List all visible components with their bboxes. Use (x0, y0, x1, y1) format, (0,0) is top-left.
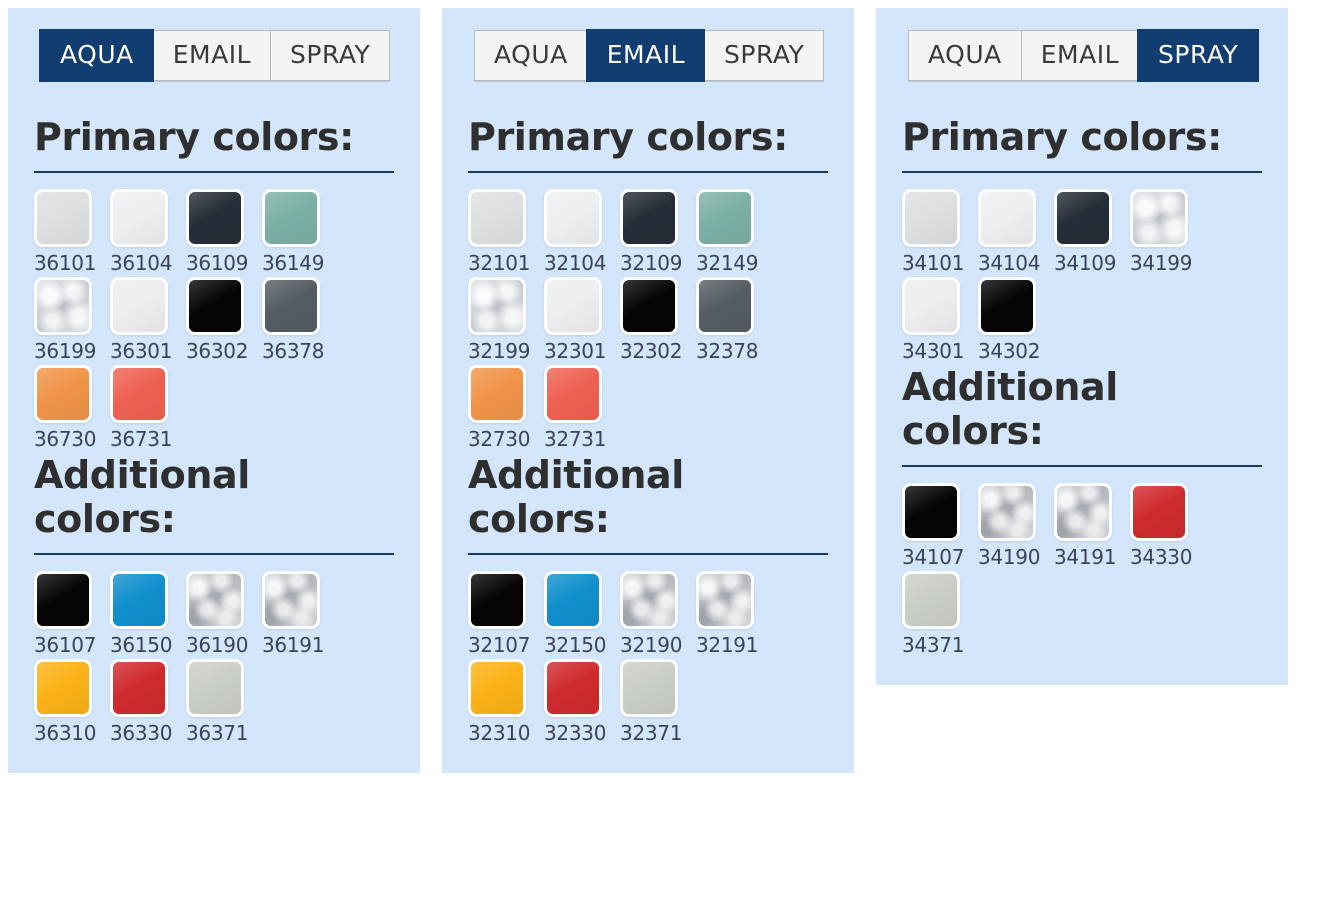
swatch-cell[interactable]: 32301 (544, 277, 620, 361)
color-code-label: 32378 (696, 341, 758, 361)
color-chip-32104[interactable] (544, 189, 602, 247)
color-chip-36371[interactable] (186, 659, 244, 717)
swatch-cell[interactable]: 32150 (544, 571, 620, 655)
color-chip-32330[interactable] (544, 659, 602, 717)
tab-spray[interactable]: SPRAY (270, 30, 390, 81)
swatch-cell[interactable]: 34109 (1054, 189, 1130, 273)
color-chip-32101[interactable] (468, 189, 526, 247)
color-code-label: 32191 (696, 635, 758, 655)
color-chip-36191[interactable] (262, 571, 320, 629)
swatch-cell[interactable]: 36302 (186, 277, 262, 361)
color-code-label: 36104 (110, 253, 172, 273)
color-chip-34302[interactable] (978, 277, 1036, 335)
swatch-cell[interactable]: 36310 (34, 659, 110, 743)
color-chip-36301[interactable] (110, 277, 168, 335)
color-code-label: 34101 (902, 253, 964, 273)
tab-email[interactable]: EMAIL (587, 30, 704, 81)
color-code-label: 32330 (544, 723, 606, 743)
swatch-cell[interactable]: 36150 (110, 571, 186, 655)
tab-bar: AQUAEMAILSPRAY (40, 30, 390, 81)
swatch-cell[interactable]: 32731 (544, 365, 620, 449)
primary-divider (902, 171, 1262, 173)
color-chip-32150[interactable] (544, 571, 602, 629)
color-code-label: 36730 (34, 429, 96, 449)
color-chip-32378[interactable] (696, 277, 754, 335)
tab-bar: AQUAEMAILSPRAY (474, 30, 824, 81)
color-code-label: 32109 (620, 253, 682, 273)
color-code-label: 32302 (620, 341, 682, 361)
primary-swatch-grid: 341013410434109341993430134302 (902, 189, 1262, 365)
swatch-cell[interactable]: 36730 (34, 365, 110, 449)
color-chip-34330[interactable] (1130, 483, 1188, 541)
swatch-cell[interactable]: 32310 (468, 659, 544, 743)
color-code-label: 34191 (1054, 547, 1116, 567)
additional-colors-heading: Additional colors: (34, 453, 394, 541)
swatch-cell[interactable]: 36104 (110, 189, 186, 273)
tab-spray[interactable]: SPRAY (1138, 30, 1258, 81)
color-code-label: 32107 (468, 635, 530, 655)
color-chip-32191[interactable] (696, 571, 754, 629)
color-code-label: 36301 (110, 341, 172, 361)
swatch-cell[interactable]: 36101 (34, 189, 110, 273)
additional-swatch-grid: 32107321503219032191323103233032371 (468, 571, 828, 747)
color-code-label: 32731 (544, 429, 606, 449)
color-chip-34190[interactable] (978, 483, 1036, 541)
color-code-label: 34371 (902, 635, 964, 655)
primary-colors-heading: Primary colors: (902, 115, 1262, 159)
swatch-cell[interactable]: 36107 (34, 571, 110, 655)
swatch-cell[interactable]: 32302 (620, 277, 696, 361)
tab-email[interactable]: EMAIL (153, 30, 270, 81)
color-code-label: 36731 (110, 429, 172, 449)
additional-divider (468, 553, 828, 555)
swatch-cell[interactable]: 36330 (110, 659, 186, 743)
color-chip-36378[interactable] (262, 277, 320, 335)
swatch-cell[interactable]: 32109 (620, 189, 696, 273)
color-chip-32107[interactable] (468, 571, 526, 629)
color-chip-34191[interactable] (1054, 483, 1112, 541)
swatch-cell[interactable]: 32730 (468, 365, 544, 449)
swatch-cell[interactable]: 34101 (902, 189, 978, 273)
color-code-label: 36302 (186, 341, 248, 361)
color-chip-36107[interactable] (34, 571, 92, 629)
color-code-label: 36371 (186, 723, 248, 743)
swatch-cell[interactable]: 32104 (544, 189, 620, 273)
swatch-cell[interactable]: 32101 (468, 189, 544, 273)
color-chip-32731[interactable] (544, 365, 602, 423)
tab-spray[interactable]: SPRAY (704, 30, 824, 81)
color-chip-34109[interactable] (1054, 189, 1112, 247)
swatch-cell[interactable]: 36731 (110, 365, 186, 449)
swatch-cell[interactable]: 36190 (186, 571, 262, 655)
color-code-label: 32371 (620, 723, 682, 743)
color-code-label: 36149 (262, 253, 324, 273)
color-chip-36149[interactable] (262, 189, 320, 247)
primary-divider (468, 171, 828, 173)
color-chip-36101[interactable] (34, 189, 92, 247)
swatch-cell[interactable]: 32191 (696, 571, 772, 655)
color-code-label: 32730 (468, 429, 530, 449)
color-code-label: 32301 (544, 341, 606, 361)
color-code-label: 36101 (34, 253, 96, 273)
color-code-label: 34301 (902, 341, 964, 361)
color-code-label: 32310 (468, 723, 530, 743)
color-code-label: 36190 (186, 635, 248, 655)
panel-aqua: AQUAEMAILSPRAYPrimary colors:36101361043… (8, 8, 420, 773)
primary-swatch-grid: 3210132104321093214932199323013230232378… (468, 189, 828, 453)
swatch-cell[interactable]: 32190 (620, 571, 696, 655)
color-code-label: 32104 (544, 253, 606, 273)
color-chip-34199[interactable] (1130, 189, 1188, 247)
color-code-label: 32190 (620, 635, 682, 655)
swatch-cell[interactable]: 36378 (262, 277, 338, 361)
color-chip-32310[interactable] (468, 659, 526, 717)
swatch-cell[interactable]: 34371 (902, 571, 978, 655)
color-chip-32730[interactable] (468, 365, 526, 423)
tab-email[interactable]: EMAIL (1021, 30, 1138, 81)
color-chip-32190[interactable] (620, 571, 678, 629)
color-code-label: 32149 (696, 253, 758, 273)
swatch-cell[interactable]: 32378 (696, 277, 772, 361)
color-chip-36302[interactable] (186, 277, 244, 335)
color-chip-34371[interactable] (902, 571, 960, 629)
panel-email: AQUAEMAILSPRAYPrimary colors:32101321043… (442, 8, 854, 773)
color-chip-32109[interactable] (620, 189, 678, 247)
additional-colors-heading: Additional colors: (468, 453, 828, 541)
color-code-label: 36310 (34, 723, 96, 743)
color-chip-36150[interactable] (110, 571, 168, 629)
color-chip-36730[interactable] (34, 365, 92, 423)
color-chip-34104[interactable] (978, 189, 1036, 247)
tab-aqua[interactable]: AQUA (474, 30, 587, 81)
swatch-cell[interactable]: 34302 (978, 277, 1054, 361)
swatch-cell[interactable]: 32371 (620, 659, 696, 743)
color-code-label: 34330 (1130, 547, 1192, 567)
swatch-cell[interactable]: 34191 (1054, 483, 1130, 567)
color-code-label: 36107 (34, 635, 96, 655)
swatch-cell[interactable]: 34107 (902, 483, 978, 567)
swatch-cell[interactable]: 36371 (186, 659, 262, 743)
color-code-label: 36150 (110, 635, 172, 655)
color-chip-34107[interactable] (902, 483, 960, 541)
primary-divider (34, 171, 394, 173)
swatch-cell[interactable]: 32330 (544, 659, 620, 743)
color-code-label: 32199 (468, 341, 530, 361)
color-chip-32301[interactable] (544, 277, 602, 335)
color-chip-32149[interactable] (696, 189, 754, 247)
color-chip-36731[interactable] (110, 365, 168, 423)
swatch-cell[interactable]: 34190 (978, 483, 1054, 567)
primary-colors-heading: Primary colors: (468, 115, 828, 159)
tab-bar: AQUAEMAILSPRAY (908, 30, 1258, 81)
swatch-cell[interactable]: 34199 (1130, 189, 1206, 273)
color-chip-34101[interactable] (902, 189, 960, 247)
color-code-label: 34190 (978, 547, 1040, 567)
swatch-cell[interactable]: 36109 (186, 189, 262, 273)
tab-aqua[interactable]: AQUA (908, 30, 1021, 81)
panel-spray: AQUAEMAILSPRAYPrimary colors:34101341043… (876, 8, 1288, 685)
tab-aqua[interactable]: AQUA (40, 30, 153, 81)
color-code-label: 36330 (110, 723, 172, 743)
color-chip-36199[interactable] (34, 277, 92, 335)
additional-swatch-grid: 3410734190341913433034371 (902, 483, 1262, 659)
color-chip-32371[interactable] (620, 659, 678, 717)
color-code-label: 34107 (902, 547, 964, 567)
swatch-cell[interactable]: 32149 (696, 189, 772, 273)
swatch-cell[interactable]: 36191 (262, 571, 338, 655)
color-chip-36190[interactable] (186, 571, 244, 629)
additional-swatch-grid: 36107361503619036191363103633036371 (34, 571, 394, 747)
color-chip-36109[interactable] (186, 189, 244, 247)
swatch-cell[interactable]: 34301 (902, 277, 978, 361)
color-chip-32302[interactable] (620, 277, 678, 335)
color-chip-36310[interactable] (34, 659, 92, 717)
color-chip-34301[interactable] (902, 277, 960, 335)
color-chip-32199[interactable] (468, 277, 526, 335)
swatch-cell[interactable]: 36301 (110, 277, 186, 361)
primary-swatch-grid: 3610136104361093614936199363013630236378… (34, 189, 394, 453)
color-code-label: 36109 (186, 253, 248, 273)
additional-divider (34, 553, 394, 555)
color-code-label: 34109 (1054, 253, 1116, 273)
swatch-cell[interactable]: 34330 (1130, 483, 1206, 567)
additional-divider (902, 465, 1262, 467)
additional-colors-heading: Additional colors: (902, 365, 1262, 453)
color-chip-36104[interactable] (110, 189, 168, 247)
swatch-cell[interactable]: 36149 (262, 189, 338, 273)
color-code-label: 32150 (544, 635, 606, 655)
color-code-label: 36378 (262, 341, 324, 361)
swatch-cell[interactable]: 34104 (978, 189, 1054, 273)
color-chip-36330[interactable] (110, 659, 168, 717)
swatch-cell[interactable]: 32199 (468, 277, 544, 361)
color-code-label: 36199 (34, 341, 96, 361)
color-code-label: 34199 (1130, 253, 1192, 273)
swatch-cell[interactable]: 32107 (468, 571, 544, 655)
color-picker-board: AQUAEMAILSPRAYPrimary colors:36101361043… (0, 0, 1321, 773)
color-code-label: 36191 (262, 635, 324, 655)
color-code-label: 32101 (468, 253, 530, 273)
swatch-cell[interactable]: 36199 (34, 277, 110, 361)
color-code-label: 34302 (978, 341, 1040, 361)
color-code-label: 34104 (978, 253, 1040, 273)
primary-colors-heading: Primary colors: (34, 115, 394, 159)
